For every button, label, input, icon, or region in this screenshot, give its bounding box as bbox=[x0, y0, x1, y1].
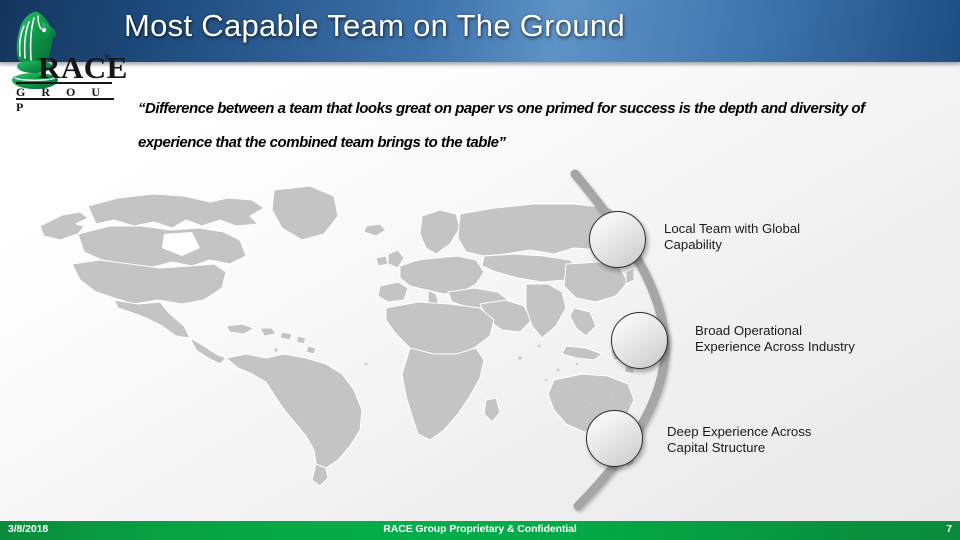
milestone-label-2: Broad Operational Experience Across Indu… bbox=[695, 323, 855, 354]
milestone-node-1[interactable] bbox=[589, 211, 646, 268]
title-bar-underline bbox=[0, 62, 960, 67]
milestone-node-3[interactable] bbox=[586, 410, 643, 467]
logo-registered-mark: ® bbox=[104, 52, 111, 62]
milestone-label-3: Deep Experience Across Capital Structure bbox=[667, 424, 811, 455]
quote-text: “Difference between a team that looks gr… bbox=[138, 92, 916, 160]
footer-page-number: 7 bbox=[0, 523, 952, 535]
page-title: Most Capable Team on The Ground bbox=[124, 8, 625, 44]
milestone-label-1: Local Team with Global Capability bbox=[664, 221, 800, 252]
logo-underline bbox=[16, 98, 114, 100]
milestone-node-2[interactable] bbox=[611, 312, 668, 369]
slide-canvas: Most Capable Team on The Ground bbox=[0, 0, 960, 540]
world-map-graphic bbox=[14, 168, 634, 498]
race-group-logo: RACE ® G R O U P bbox=[0, 0, 118, 102]
logo-wordmark: RACE bbox=[38, 52, 128, 83]
world-map bbox=[14, 168, 634, 498]
